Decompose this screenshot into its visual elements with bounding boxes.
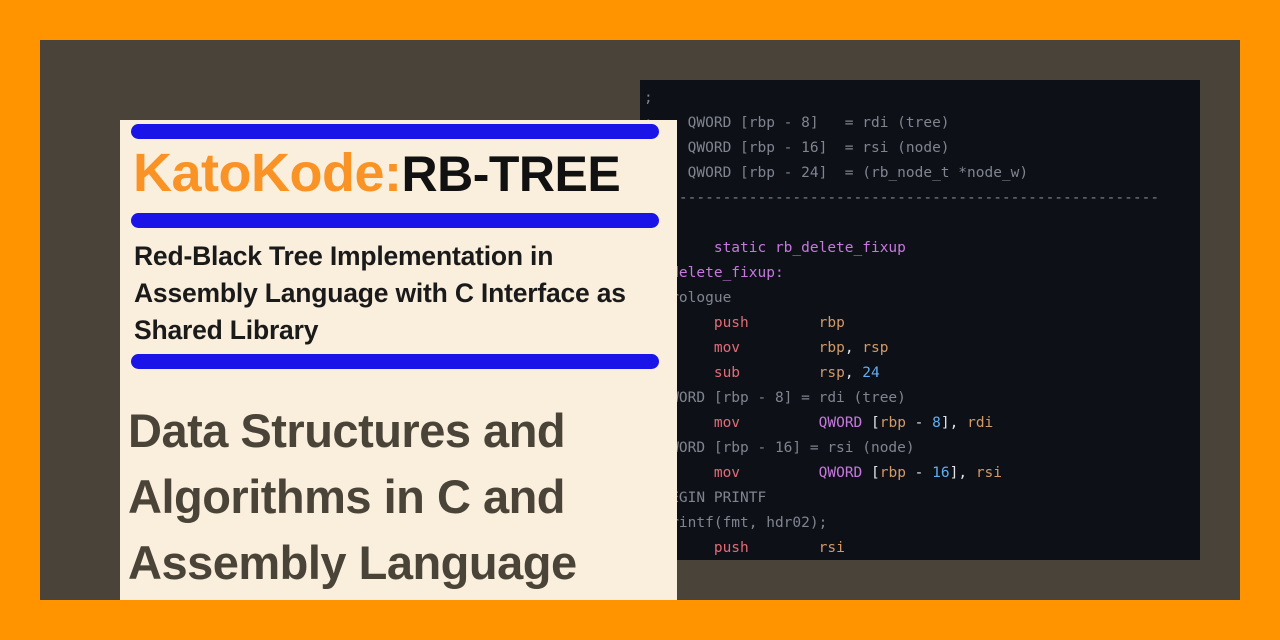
code-token-cmt: ; QWORD [rbp - 16] = rsi (node) (644, 140, 950, 156)
code-token-reg: rbp (819, 340, 845, 356)
code-token-reg: rdi (967, 415, 993, 431)
code-panel[interactable]: ;; QWORD [rbp - 8] = rdi (tree); QWORD [… (640, 80, 1200, 560)
code-line: ; QWORD [rbp - 16] = rsi (node) (640, 136, 1200, 161)
code-line: ; prologue (640, 286, 1200, 311)
code-line: ; BEGIN PRINTF (640, 486, 1200, 511)
code-line: ; (640, 211, 1200, 236)
code-token-reg: rsi (819, 540, 845, 556)
code-listing: ;; QWORD [rbp - 8] = rdi (tree); QWORD [… (640, 80, 1200, 560)
code-token-kw: mov (714, 340, 740, 356)
code-token-pun (740, 415, 819, 431)
brand-prefix: KatoKode: (133, 142, 401, 204)
code-token-num: 8 (932, 415, 941, 431)
code-token-pun (740, 465, 819, 481)
code-line: mov QWORD [rbp - 8], rdi (640, 411, 1200, 436)
code-token-pun (749, 315, 819, 331)
code-token-reg: rbp (880, 415, 906, 431)
code-line: ; QWORD [rbp - 8] = rdi (tree) (640, 386, 1200, 411)
code-token-pun: - (906, 465, 932, 481)
code-line: ;---------------------------------------… (640, 186, 1200, 211)
divider-bar-bottom (131, 354, 659, 369)
code-token-cmt: ; QWORD [rbp - 24] = (rb_node_t *node_w) (644, 165, 1028, 181)
card-headline: Data Structures and Algorithms in C and … (128, 398, 673, 596)
code-token-lbl: static rb_delete_fixup (644, 240, 906, 256)
code-token-reg: rsi (976, 465, 1002, 481)
code-token-pun: ], (941, 415, 967, 431)
brand-title: RB-TREE (401, 145, 620, 203)
code-token-pun: , (845, 365, 862, 381)
code-token-size: QWORD (819, 415, 863, 431)
code-line: ; (640, 86, 1200, 111)
code-token-num: 24 (862, 365, 879, 381)
code-token-pun: ], (950, 465, 976, 481)
code-token-pun (749, 540, 819, 556)
code-line: push rsi (640, 536, 1200, 560)
code-token-pun (740, 365, 819, 381)
code-token-reg: rsp (862, 340, 888, 356)
code-token-kw: mov (714, 465, 740, 481)
code-token-pun: , (845, 340, 862, 356)
code-token-kw: push (714, 540, 749, 556)
code-token-kw: mov (714, 415, 740, 431)
code-line: ; QWORD [rbp - 8] = rdi (tree) (640, 111, 1200, 136)
code-token-pun: [ (862, 415, 879, 431)
code-token-pun (740, 340, 819, 356)
code-token-cmt: ; QWORD [rbp - 8] = rdi (tree) (644, 390, 906, 406)
card-subtitle: Red-Black Tree Implementation in Assembl… (134, 238, 656, 349)
brand-lockup: KatoKode:RB-TREE (133, 142, 620, 204)
code-token-pun: [ (862, 465, 879, 481)
code-token-reg: rbp (880, 465, 906, 481)
code-token-kw: push (714, 315, 749, 331)
code-token-size: QWORD (819, 465, 863, 481)
code-line: ; printf(fmt, hdr02); (640, 511, 1200, 536)
divider-bar-top (131, 124, 659, 139)
code-token-cmt: ; QWORD [rbp - 16] = rsi (node) (644, 440, 915, 456)
code-line: sub rsp, 24 (640, 361, 1200, 386)
code-token-cmt: ;---------------------------------------… (644, 190, 1159, 206)
code-line: rb_delete_fixup: (640, 261, 1200, 286)
code-line: mov rbp, rsp (640, 336, 1200, 361)
code-token-num: 16 (932, 465, 949, 481)
code-token-cmt: ; (644, 90, 653, 106)
code-line: ; QWORD [rbp - 24] = (rb_node_t *node_w) (640, 161, 1200, 186)
poster-stage: ;; QWORD [rbp - 8] = rdi (tree); QWORD [… (40, 40, 1240, 600)
code-line: mov QWORD [rbp - 16], rsi (640, 461, 1200, 486)
divider-bar-middle (131, 213, 659, 228)
title-card: KatoKode:RB-TREE Red-Black Tree Implemen… (120, 120, 677, 600)
code-line: push rbp (640, 311, 1200, 336)
code-token-reg: rbp (819, 315, 845, 331)
code-token-cmt: ; QWORD [rbp - 8] = rdi (tree) (644, 115, 950, 131)
code-token-reg: rsp (819, 365, 845, 381)
code-token-pun: - (906, 415, 932, 431)
code-token-kw: sub (714, 365, 740, 381)
code-line: static rb_delete_fixup (640, 236, 1200, 261)
code-line: ; QWORD [rbp - 16] = rsi (node) (640, 436, 1200, 461)
